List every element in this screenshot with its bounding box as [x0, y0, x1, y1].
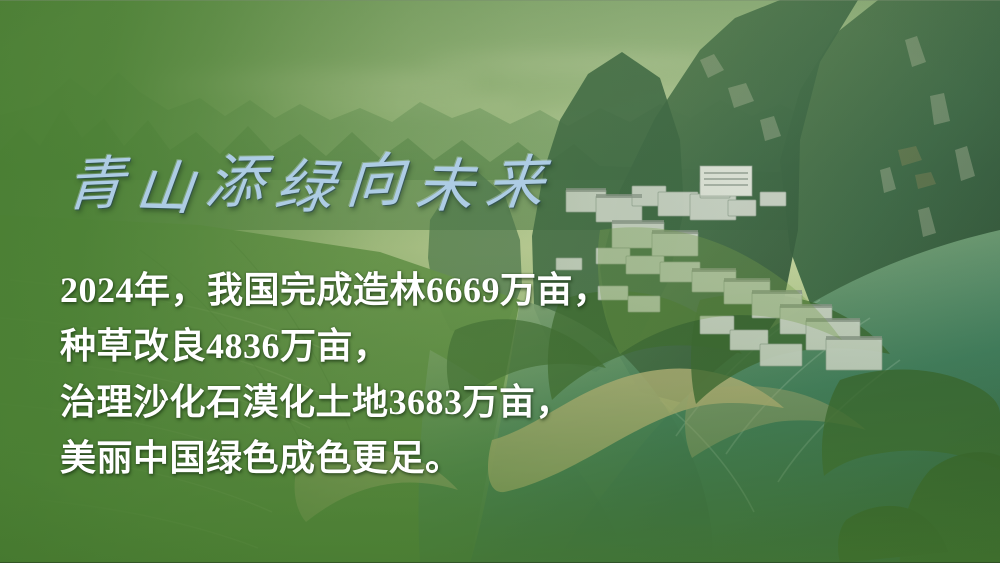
poster-canvas: 青 山 添 绿 向 未 来 2024年，我国完成造林6669万亩， 种草改良48…: [0, 0, 1000, 563]
frame-edge: [0, 0, 1000, 563]
